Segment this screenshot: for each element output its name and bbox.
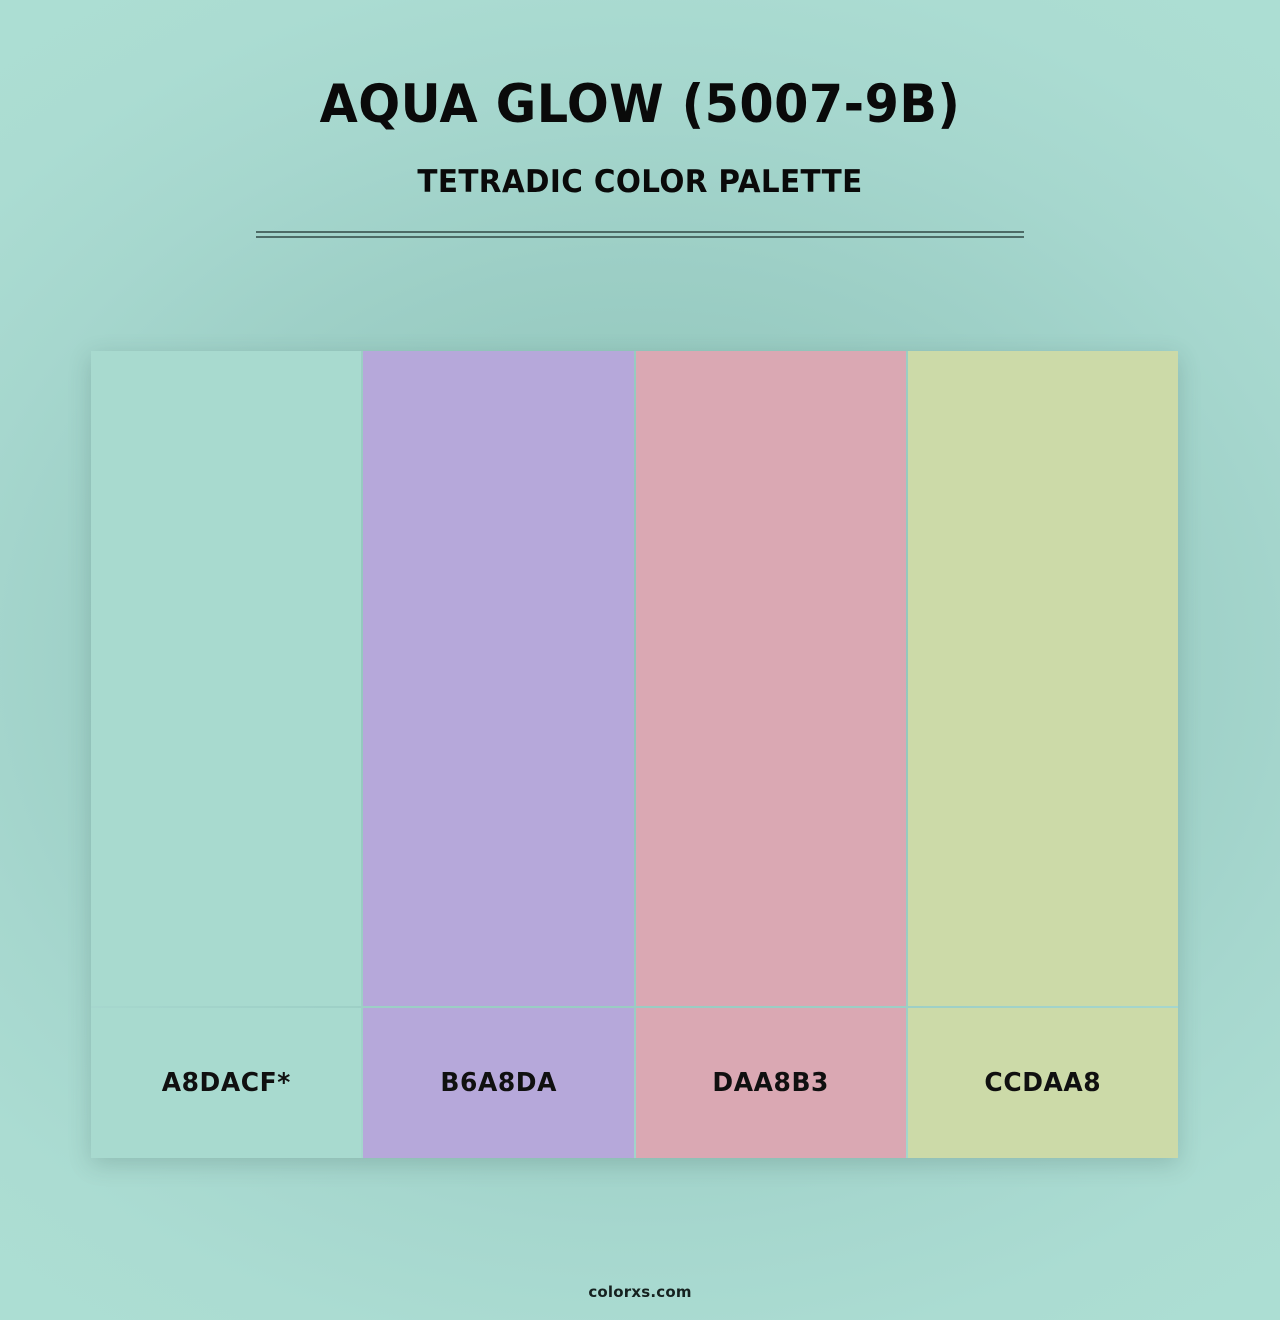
header: AQUA GLOW (5007-9B) TETRADIC COLOR PALET… xyxy=(0,0,1280,300)
swatch-label-cell[interactable]: DAA8B3 xyxy=(636,1008,906,1158)
swatch-label: DAA8B3 xyxy=(712,1068,829,1098)
swatch-label-cell[interactable]: A8DACF* xyxy=(91,1008,361,1158)
swatch-label: B6A8DA xyxy=(440,1068,557,1098)
swatch-label: CCDAA8 xyxy=(984,1068,1101,1098)
divider-rule-bottom xyxy=(256,236,1024,238)
page-title: AQUA GLOW (5007-9B) xyxy=(45,74,1235,136)
footer: colorxs.com xyxy=(0,1282,1280,1301)
swatch-column[interactable]: DAA8B3 xyxy=(636,351,906,1158)
swatch-color-block[interactable] xyxy=(908,351,1178,1006)
page-subtitle: TETRADIC COLOR PALETTE xyxy=(32,163,1248,201)
divider-rule-top xyxy=(256,231,1024,233)
swatch-label: A8DACF* xyxy=(162,1068,291,1098)
site-credit: colorxs.com xyxy=(588,1283,691,1301)
swatch-color-block[interactable] xyxy=(91,351,361,1006)
swatch-column[interactable]: B6A8DA xyxy=(363,351,633,1158)
swatch-color-block[interactable] xyxy=(363,351,633,1006)
title-divider xyxy=(256,231,1024,237)
palette-panel: A8DACF* B6A8DA DAA8B3 CCDAA8 xyxy=(91,351,1178,1158)
swatch-column[interactable]: CCDAA8 xyxy=(908,351,1178,1158)
swatch-label-cell[interactable]: CCDAA8 xyxy=(908,1008,1178,1158)
swatch-label-cell[interactable]: B6A8DA xyxy=(363,1008,633,1158)
swatch-color-block[interactable] xyxy=(636,351,906,1006)
swatch-row: A8DACF* B6A8DA DAA8B3 CCDAA8 xyxy=(91,351,1178,1158)
swatch-column[interactable]: A8DACF* xyxy=(91,351,361,1158)
